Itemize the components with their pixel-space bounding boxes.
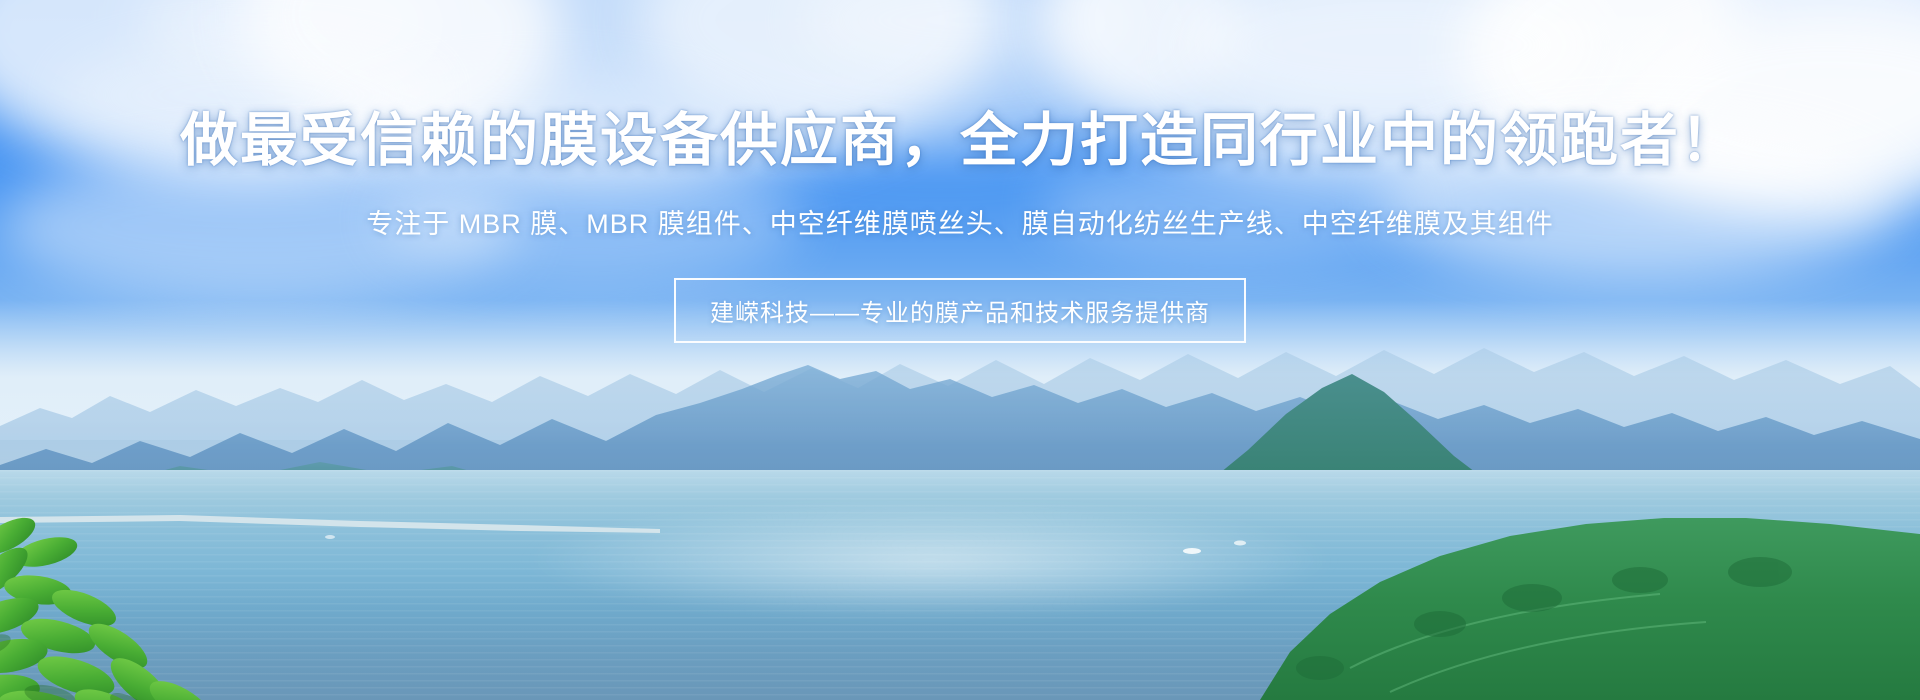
right-foreground-bank	[1140, 400, 1920, 700]
foreground-foliage	[0, 440, 280, 700]
banner-copy: 做最受信赖的膜设备供应商，全力打造同行业中的领跑者！ 专注于 MBR 膜、MBR…	[0, 0, 1920, 343]
banner-headline: 做最受信赖的膜设备供应商，全力打造同行业中的领跑者！	[0, 110, 1920, 173]
hero-banner: 做最受信赖的膜设备供应商，全力打造同行业中的领跑者！ 专注于 MBR 膜、MBR…	[0, 0, 1920, 700]
banner-subtitle: 专注于 MBR 膜、MBR 膜组件、中空纤维膜喷丝头、膜自动化纺丝生产线、中空纤…	[0, 207, 1920, 242]
banner-tagline-wrapper: 建嵘科技——专业的膜产品和技术服务提供商	[0, 278, 1920, 343]
banner-tagline-box: 建嵘科技——专业的膜产品和技术服务提供商	[674, 278, 1246, 343]
